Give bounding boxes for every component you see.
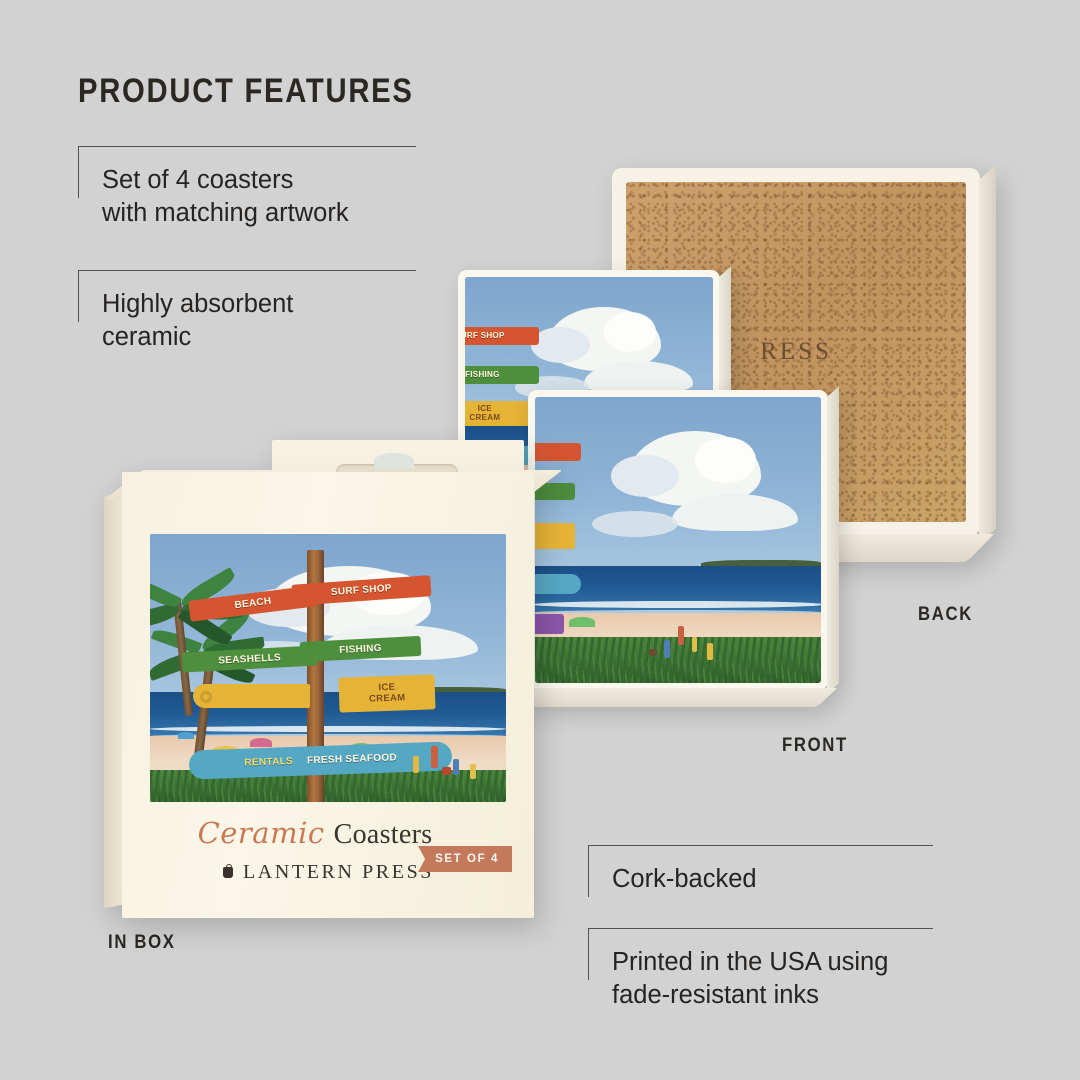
coaster-back-side-edge [979, 165, 996, 544]
sign-line-ice: ICE [478, 404, 492, 413]
coaster-artwork-main: BEACH SURF SHOP SEASHELLS FISHING ICE CR… [150, 534, 506, 802]
beach-figure-adult [678, 626, 684, 645]
sign-label-rentals: RENTALS [244, 756, 293, 769]
feature-divider-left [78, 270, 79, 322]
cloud-small [592, 511, 678, 537]
feature-divider-left [588, 928, 589, 980]
beach-figure-child [470, 764, 476, 779]
lantern-icon [222, 864, 235, 881]
beach-umbrella [250, 738, 272, 747]
sign-fishing: FISHING [465, 366, 539, 383]
sign-label: FISHING [338, 642, 381, 655]
sign-label-seafood: FRESH SEAFOOD [307, 752, 397, 766]
sign-label: SURF SHOP [331, 583, 393, 598]
sign-fresh-seafood: OOD [535, 574, 581, 594]
sign-ice-cream: EAM [535, 523, 575, 549]
sign-shop [535, 614, 564, 634]
brand-lockup: Ceramic Coasters [96, 816, 534, 851]
feature-divider-top [78, 146, 416, 147]
feature-text: Set of 4 coasters with matching artwork [102, 164, 349, 230]
brand-script-word: Ceramic [198, 816, 325, 850]
sign-label: SEASHELLS [218, 652, 281, 666]
feature-divider-top [588, 845, 933, 846]
feature-divider-top [78, 270, 416, 271]
beach-umbrella [569, 617, 595, 627]
beach-figure-adult [431, 746, 438, 768]
coaster-front-view: EAM OOD [528, 390, 828, 690]
feature-divider-left [588, 845, 589, 897]
beach-gear [442, 767, 451, 775]
beach-dog [649, 649, 657, 656]
caption-back: BACK [918, 604, 973, 626]
publisher-name: LANTERN PRESS [243, 861, 434, 884]
sign-line-ice: ICE [378, 682, 395, 694]
sign-paddle-hole [200, 691, 212, 703]
beach-figure-child [413, 756, 419, 773]
sign-line-cream: CREAM [369, 693, 406, 705]
cork-brand-text: RESS [760, 338, 832, 366]
sign-surf-shop: SURF SHOP [465, 327, 539, 346]
feature-text: Printed in the USA using fade-resistant … [612, 946, 888, 1012]
sign-line-cream: CREAM [469, 413, 500, 422]
beach-figure-child [453, 759, 459, 775]
coaster-side-edge [827, 386, 839, 694]
sign-ice-cream: ICE CREAM [338, 674, 435, 712]
brand-serif-word: Coasters [334, 819, 433, 851]
page-title: PRODUCT FEATURES [78, 72, 414, 111]
set-of-4-badge: SET OF 4 [418, 846, 512, 872]
feature-text: Highly absorbent ceramic [102, 288, 293, 354]
box-window: BEACH SURF SHOP SEASHELLS FISHING ICE CR… [150, 534, 506, 802]
product-features-canvas: PRODUCT FEATURES Set of 4 coasters with … [0, 0, 1080, 1080]
caption-front: FRONT [782, 735, 848, 757]
beach-figure-child [707, 643, 713, 660]
coaster-package-box: BEACH SURF SHOP SEASHELLS FISHING ICE CR… [104, 440, 534, 918]
feature-divider-top [588, 928, 933, 929]
caption-in-box: IN BOX [108, 932, 176, 954]
feature-text: Cork-backed [612, 863, 757, 896]
beach-figure-child [692, 637, 697, 652]
surf-line-1 [535, 601, 821, 607]
sign-surf-shop [535, 443, 581, 462]
coaster-bottom-edge [513, 688, 837, 707]
beach-umbrella [178, 732, 194, 739]
beach-figure-child [664, 640, 670, 658]
coaster-artwork: EAM OOD [535, 397, 821, 683]
sign-label: BEACH [234, 596, 272, 611]
feature-divider-left [78, 146, 79, 198]
box-front-panel: BEACH SURF SHOP SEASHELLS FISHING ICE CR… [122, 472, 534, 918]
